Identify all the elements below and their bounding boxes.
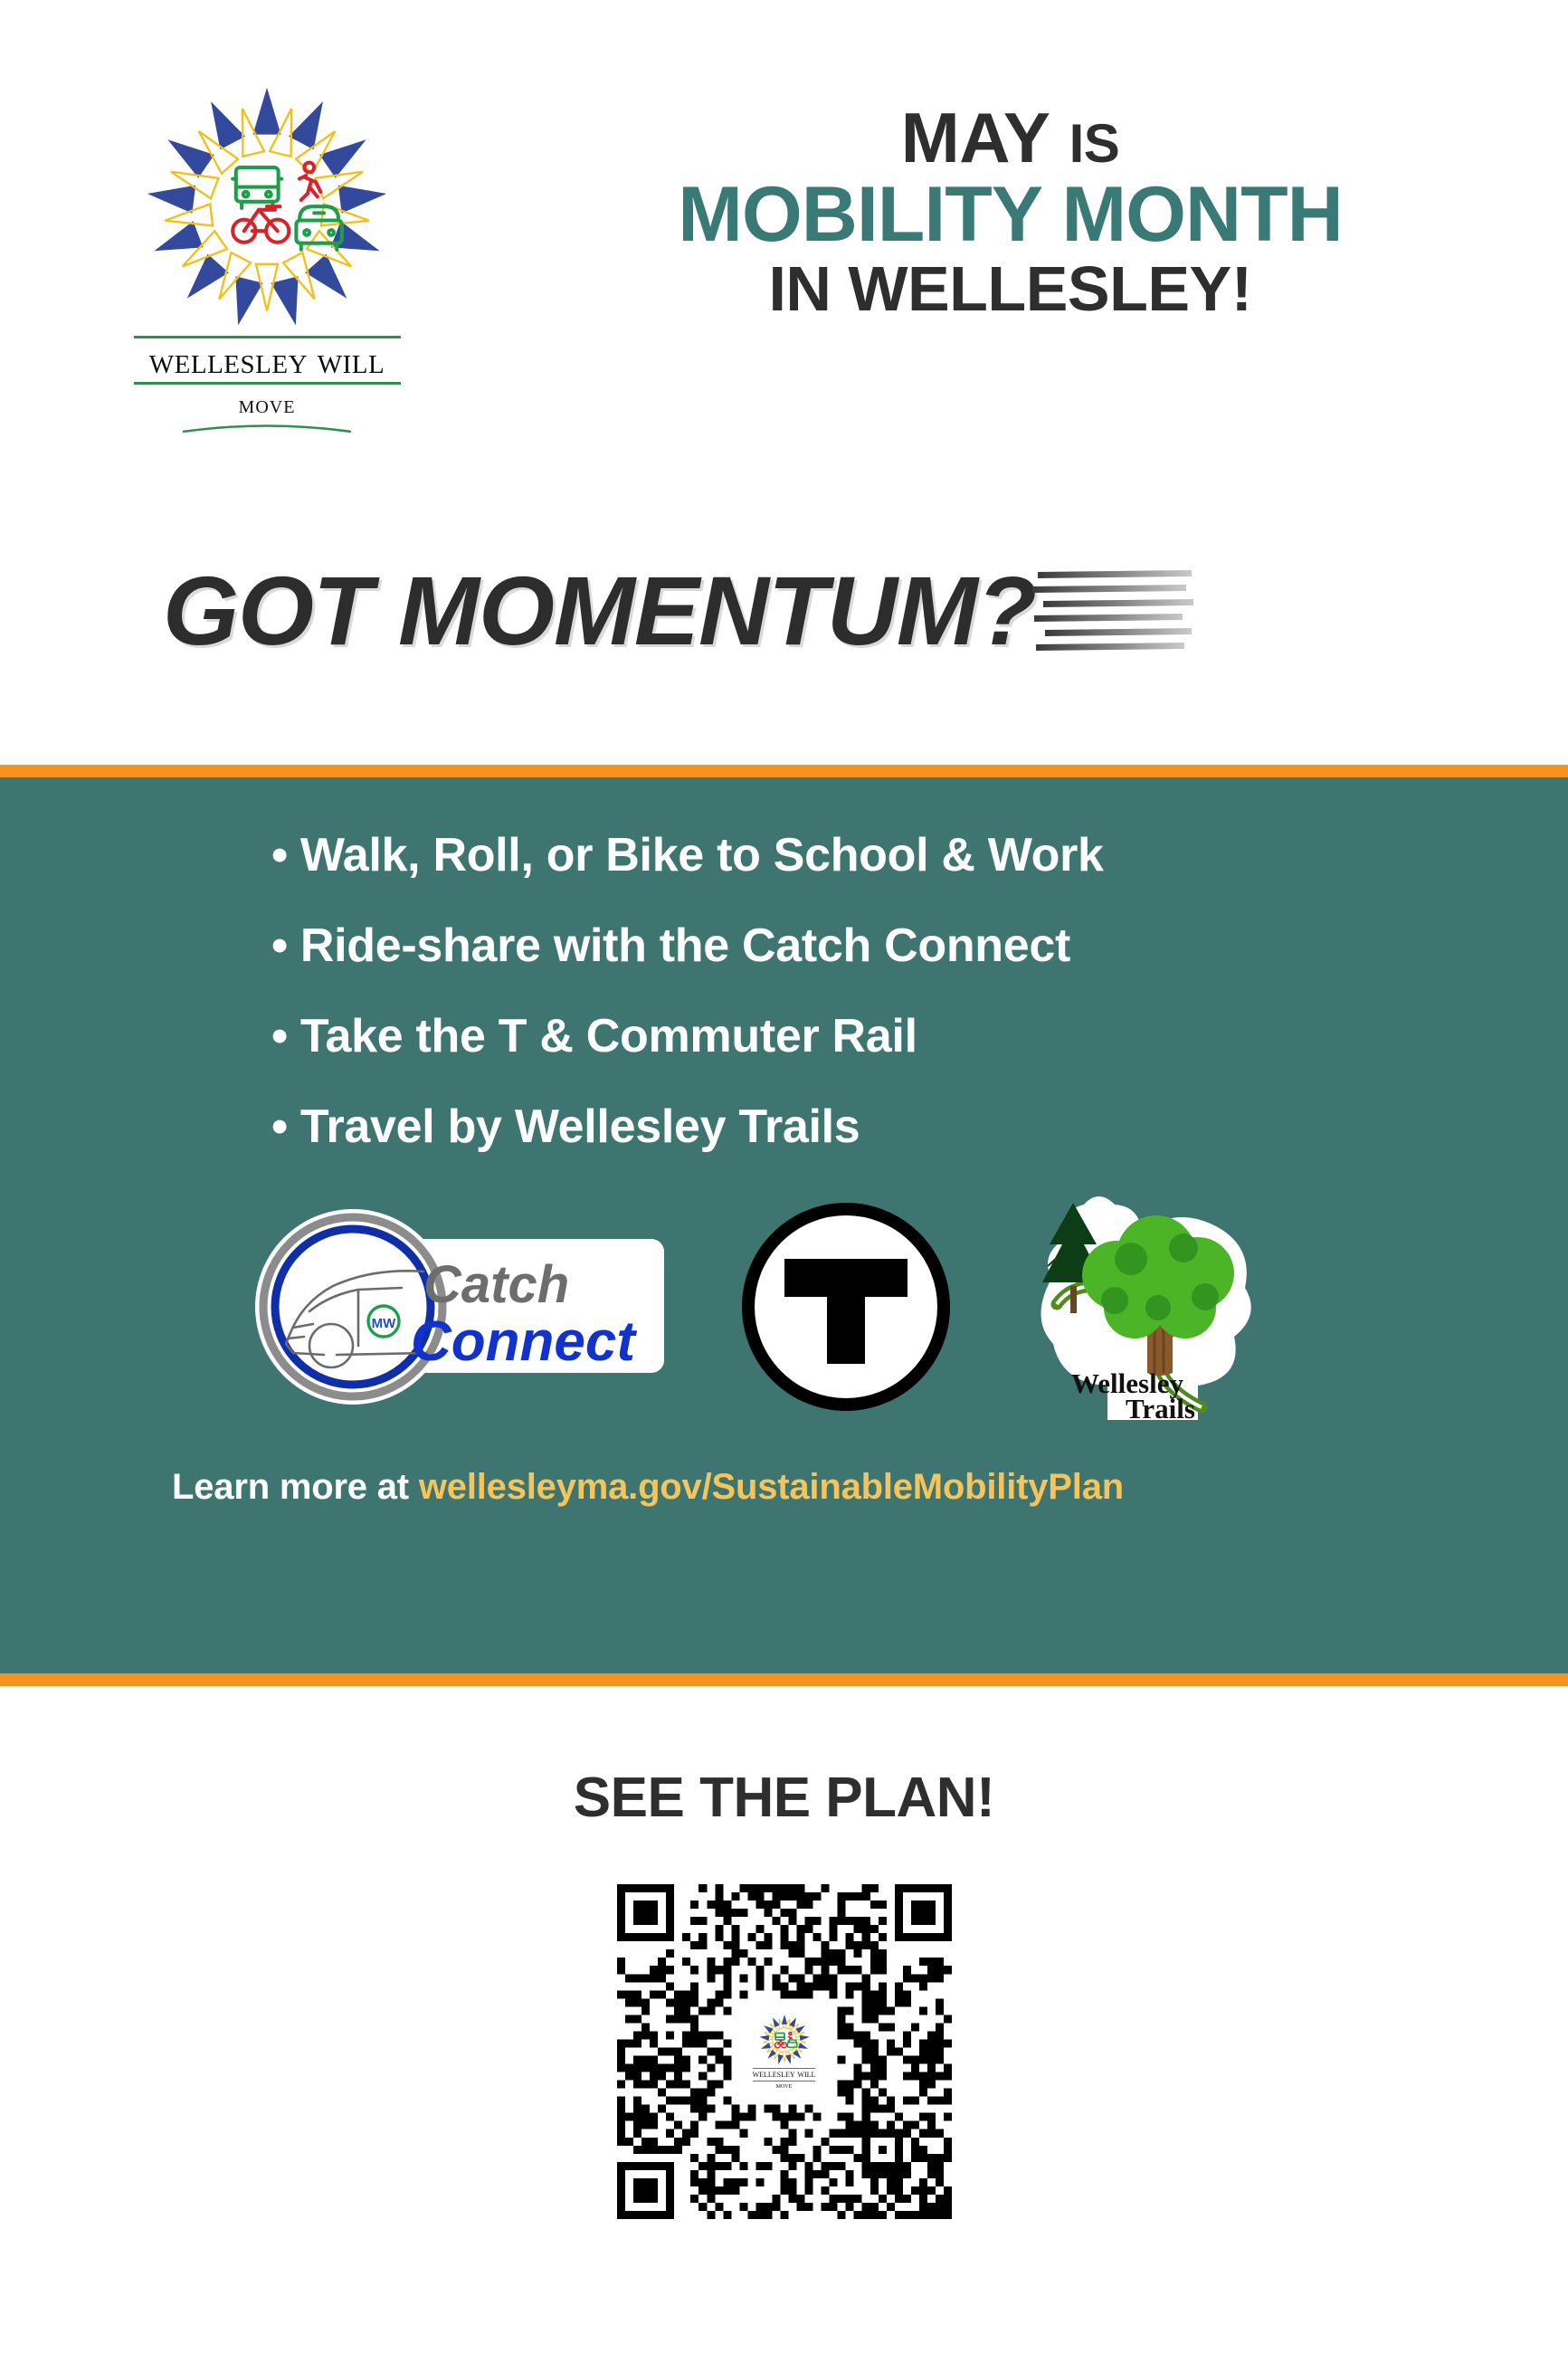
qr-center-tagline: Move: [776, 2081, 793, 2090]
bullet-marker-icon: •: [271, 919, 288, 972]
list-item: •Take the T & Commuter Rail: [271, 1013, 1568, 1060]
list-item: •Travel by Wellesley Trails: [271, 1103, 1568, 1150]
svg-text:Connect: Connect: [411, 1310, 637, 1373]
header-row: Wellesley Will Move MAY IS MOBILITY MONT…: [0, 0, 1568, 437]
see-plan-heading: SEE THE PLAN!: [0, 1766, 1568, 1830]
learn-more-url[interactable]: wellesleyma.gov/SustainableMobilityPlan: [419, 1467, 1124, 1507]
title-line-3: IN WELLESLEY!: [507, 255, 1514, 324]
title-may: MAY: [901, 98, 1050, 177]
title-is: IS: [1069, 113, 1120, 174]
bullet-list: •Walk, Roll, or Bike to School & Work •R…: [0, 832, 1568, 1150]
divider-orange-top: [0, 765, 1568, 777]
list-item-label: Walk, Roll, or Bike to School & Work: [300, 829, 1104, 881]
tagline-row: GOT MOMENTUM?: [0, 561, 1568, 660]
wellesley-will-move-logo: Wellesley Will Move: [0, 86, 507, 437]
mini-medallion-icon: [758, 2014, 811, 2066]
speed-lines-icon: [1031, 565, 1193, 660]
qr-center-logo: Wellesley Will Move: [734, 2001, 835, 2102]
bullet-marker-icon: •: [271, 1100, 288, 1153]
learn-more-line: Learn more at wellesleyma.gov/Sustainabl…: [0, 1467, 1568, 1508]
partner-logos-row: MW Catch Connect: [0, 1194, 1568, 1420]
qr-code[interactable]: Wellesley Will Move: [617, 1884, 952, 2219]
svg-text:Catch: Catch: [423, 1255, 569, 1314]
poster-header-section: Wellesley Will Move MAY IS MOBILITY MONT…: [0, 0, 1568, 765]
divider-orange-bottom: [0, 1673, 1568, 1686]
medallion-starburst-icon: [145, 86, 389, 330]
list-item-label: Take the T & Commuter Rail: [300, 1010, 917, 1062]
qr-center-name: Wellesley Will: [753, 2068, 816, 2082]
list-item: •Ride-share with the Catch Connect: [271, 922, 1568, 969]
title-line-1: MAY IS: [507, 102, 1514, 175]
page-title: MAY IS MOBILITY MONTH IN WELLESLEY!: [507, 86, 1568, 324]
logo-wordmark: Wellesley Will Move: [134, 336, 401, 437]
bullet-marker-icon: •: [271, 829, 288, 881]
logo-tagline-text: Move: [134, 385, 401, 420]
see-the-plan-section: SEE THE PLAN!: [0, 1686, 1568, 2219]
list-item-label: Travel by Wellesley Trails: [300, 1100, 860, 1153]
mbta-t-logo: [742, 1203, 950, 1411]
title-line-2: MOBILITY MONTH: [507, 175, 1514, 255]
bullet-marker-icon: •: [271, 1010, 288, 1062]
list-item-label: Ride-share with the Catch Connect: [300, 919, 1070, 972]
learn-more-prefix: Learn more at: [172, 1467, 419, 1507]
wellesley-trails-logo: Wellesley Trails: [1021, 1192, 1260, 1423]
mobility-options-section: •Walk, Roll, or Bike to School & Work •R…: [0, 777, 1568, 1673]
svg-text:MW: MW: [372, 1316, 396, 1331]
logo-swoosh-icon: [181, 422, 353, 433]
logo-name-text: Wellesley Will: [134, 338, 401, 382]
tagline-text: GOT MOMENTUM?: [163, 562, 1036, 660]
catch-connect-logo: MW Catch Connect: [246, 1201, 671, 1414]
trails-word-2: Trails: [1126, 1393, 1195, 1423]
list-item: •Walk, Roll, or Bike to School & Work: [271, 832, 1568, 879]
